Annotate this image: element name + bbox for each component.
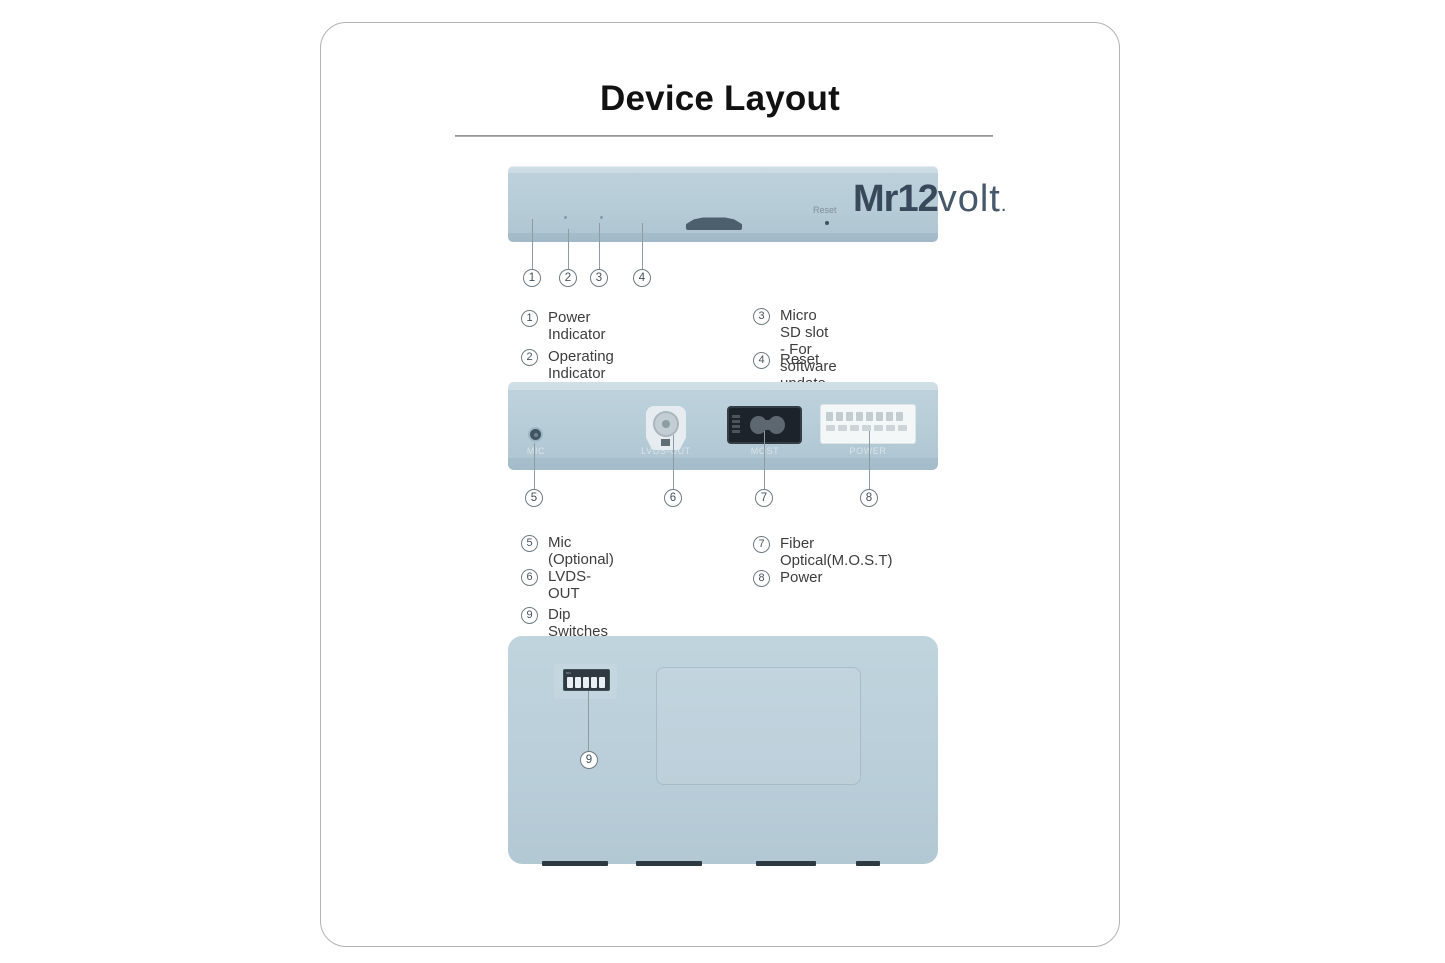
legend-label-8: Power bbox=[780, 569, 823, 586]
title-divider bbox=[455, 135, 993, 137]
legend-label-5: Mic (Optional) bbox=[548, 534, 614, 568]
bottom-panel-image: ON bbox=[508, 636, 938, 864]
legend-number-5: 5 bbox=[521, 535, 538, 552]
rear-panel-image: MIC LVDS-OUT MOST POWER bbox=[508, 382, 938, 470]
legend-item-7: 7 Fiber Optical(M.O.S.T) bbox=[753, 535, 893, 569]
rear-panel-bottom-edge bbox=[508, 458, 938, 470]
dip-switch-toggle-3[interactable] bbox=[583, 677, 589, 688]
dip-switch-toggle-5[interactable] bbox=[599, 677, 605, 688]
legend-number-2: 2 bbox=[521, 349, 538, 366]
page-title: Device Layout bbox=[321, 79, 1119, 119]
most-port-opening bbox=[750, 416, 786, 434]
leader-line-5 bbox=[534, 443, 535, 491]
leader-line-3 bbox=[599, 223, 600, 271]
brand-logo-bold: Mr12 bbox=[853, 178, 938, 220]
front-panel-bottom-edge bbox=[508, 233, 938, 242]
leader-line-1 bbox=[532, 219, 533, 271]
legend-number-4: 4 bbox=[753, 352, 770, 369]
legend-label-7: Fiber Optical(M.O.S.T) bbox=[780, 535, 893, 569]
legend-number-3: 3 bbox=[753, 308, 770, 325]
rear-panel-top-edge bbox=[508, 382, 938, 390]
legend-label-4: Reset bbox=[780, 351, 819, 368]
power-port-label: POWER bbox=[830, 446, 906, 456]
leader-line-6 bbox=[673, 435, 674, 491]
lvds-connector-tab bbox=[661, 439, 670, 446]
legend-item-8: 8 Power bbox=[753, 569, 823, 587]
callout-7: 7 bbox=[755, 489, 773, 507]
legend-label-6: LVDS-OUT bbox=[548, 568, 591, 602]
mic-port-label: MIC bbox=[513, 446, 559, 456]
legend-label-2: Operating Indicator bbox=[548, 348, 614, 382]
dip-switch-toggle-2[interactable] bbox=[575, 677, 581, 688]
device-feet bbox=[508, 861, 938, 868]
legend-item-4: 4 Reset bbox=[753, 351, 819, 369]
legend-number-9: 9 bbox=[521, 607, 538, 624]
leader-line-8 bbox=[869, 431, 870, 491]
legend-item-5: 5 Mic (Optional) bbox=[521, 534, 614, 568]
legend-item-2: 2 Operating Indicator bbox=[521, 348, 614, 382]
bottom-panel-recess bbox=[656, 667, 861, 785]
legend-number-7: 7 bbox=[753, 536, 770, 553]
brand-logo-light: volt bbox=[938, 178, 1001, 220]
dip-switch-toggle-1[interactable] bbox=[567, 677, 573, 688]
legend-number-6: 6 bbox=[521, 569, 538, 586]
brand-logo: Mr12volt. bbox=[853, 180, 1005, 224]
callout-2: 2 bbox=[559, 269, 577, 287]
front-panel-top-edge bbox=[508, 166, 938, 173]
legend-item-6: 6 LVDS-OUT bbox=[521, 568, 591, 602]
leader-line-7 bbox=[764, 431, 765, 491]
callout-1: 1 bbox=[523, 269, 541, 287]
most-port-pins bbox=[732, 415, 740, 437]
reset-pinhole bbox=[825, 221, 829, 225]
device-layout-card: Device Layout Reset Mr12volt. 1 2 3 4 1 … bbox=[320, 22, 1120, 947]
callout-9: 9 bbox=[580, 751, 598, 769]
dip-switch-block: ON bbox=[563, 669, 610, 691]
power-indicator-led bbox=[564, 216, 567, 219]
mic-port bbox=[528, 427, 543, 442]
dip-switch-markings: ON bbox=[566, 671, 609, 676]
brand-logo-dot: . bbox=[1001, 194, 1006, 216]
dip-switch-on-label: ON bbox=[566, 671, 571, 675]
leader-line-2 bbox=[568, 229, 569, 271]
leader-line-9 bbox=[588, 691, 589, 753]
callout-6: 6 bbox=[664, 489, 682, 507]
operating-indicator-led bbox=[600, 216, 603, 219]
dip-switch-toggle-4[interactable] bbox=[591, 677, 597, 688]
reset-label: Reset bbox=[813, 205, 837, 215]
legend-label-1: Power Indicator bbox=[548, 309, 606, 343]
callout-3: 3 bbox=[590, 269, 608, 287]
callout-4: 4 bbox=[633, 269, 651, 287]
front-panel-image: Reset Mr12volt. bbox=[508, 166, 938, 242]
lvds-out-port bbox=[646, 406, 686, 450]
lvds-out-port-label: LVDS-OUT bbox=[636, 446, 696, 456]
legend-number-1: 1 bbox=[521, 310, 538, 327]
leader-line-4 bbox=[642, 223, 643, 271]
legend-number-8: 8 bbox=[753, 570, 770, 587]
lvds-connector-ring bbox=[653, 411, 679, 437]
power-connector-pin-row-top bbox=[826, 412, 912, 422]
legend-item-1: 1 Power Indicator bbox=[521, 309, 606, 343]
callout-5: 5 bbox=[525, 489, 543, 507]
callout-8: 8 bbox=[860, 489, 878, 507]
micro-sd-slot bbox=[686, 217, 742, 230]
power-connector-port bbox=[820, 404, 916, 444]
